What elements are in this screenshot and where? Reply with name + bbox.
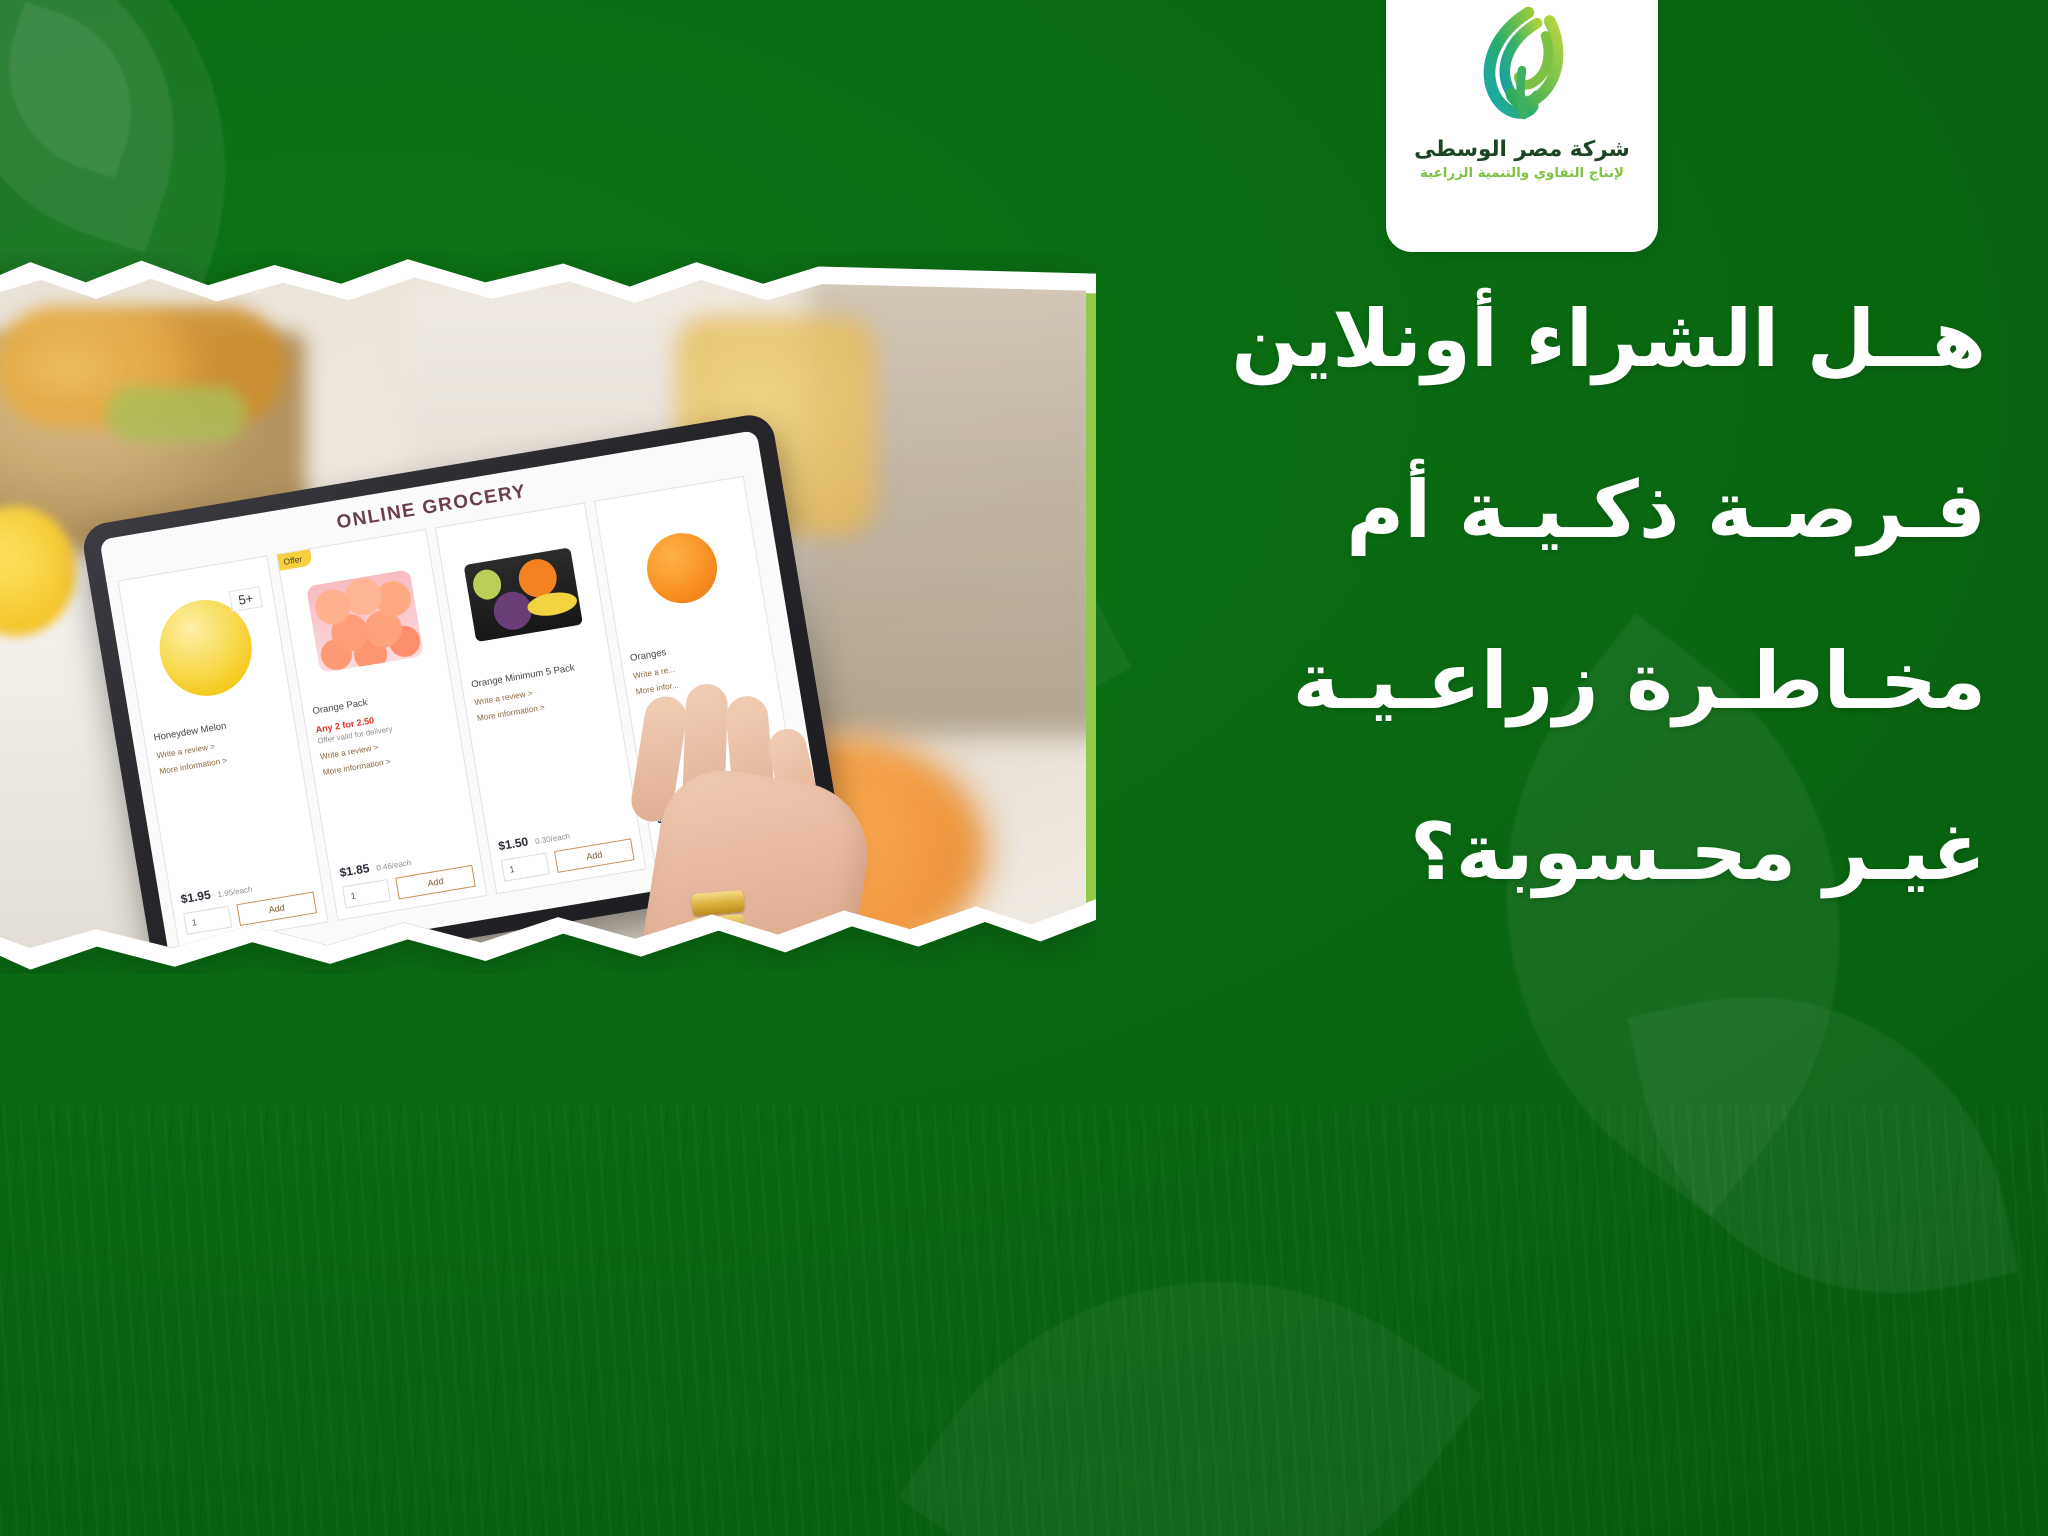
brand-name: شركة مصر الوسطى [1414,138,1630,163]
brand-tagline: لإنتاج التقاوي والتنمية الزراعية [1420,166,1624,181]
product-unit-price: 0.30/each [534,831,570,846]
tablet-photo: ONLINE GROCERY 5+ Honeydew Melon Write a… [0,276,1086,948]
product-thumbnail [290,552,440,690]
product-footer: $1.95 1.95/each 1 Add [180,871,317,935]
orange-icon [642,528,723,609]
headline-block: هــل الشراء أونلاين فـرصـة ذكـيـة أم مخـ… [1116,300,1986,892]
add-button[interactable]: Add [236,891,317,926]
offer-badge: Offer [277,549,312,570]
product-footer: $1.85 0.46/each 1 Add [339,844,476,908]
product-footer: $1.50 0.30/each 1 Add [497,818,634,882]
orange-pack-icon [305,569,423,673]
fruit-tray-icon [464,547,583,642]
headline-line-3: مخـاطـرة زراعـيـة [1116,642,1986,721]
brand-logo-card: شركة مصر الوسطى لإنتاج التقاوي والتنمية … [1386,0,1658,252]
photo-greens [106,386,246,442]
headline-line-2: فـرصـة ذكـيـة أم [1116,471,1986,550]
product-price: $1.85 [339,861,371,880]
headline-line-4: غيـر محـسوبة؟ [1116,813,1986,892]
headline-line-1: هــل الشراء أونلاين [1116,300,1986,379]
product-thumbnail [607,499,757,637]
product-price: $1.50 [497,834,529,853]
product-price: $1.95 [180,888,212,907]
grass-texture [0,1106,2048,1536]
quantity-input[interactable]: 1 [501,853,550,882]
add-button[interactable]: Add [554,838,635,873]
torn-photo-frame: ONLINE GROCERY 5+ Honeydew Melon Write a… [0,252,1096,974]
product-unit-price: 0.46/each [376,858,412,873]
product-unit-price: 1.95/each [217,885,253,900]
product-thumbnail [448,526,598,664]
quantity-input[interactable]: 1 [183,906,232,935]
ring-icon [691,890,745,916]
leaf-logo-icon [1457,4,1587,132]
quantity-input[interactable]: 1 [342,879,391,908]
add-button[interactable]: Add [395,865,476,900]
